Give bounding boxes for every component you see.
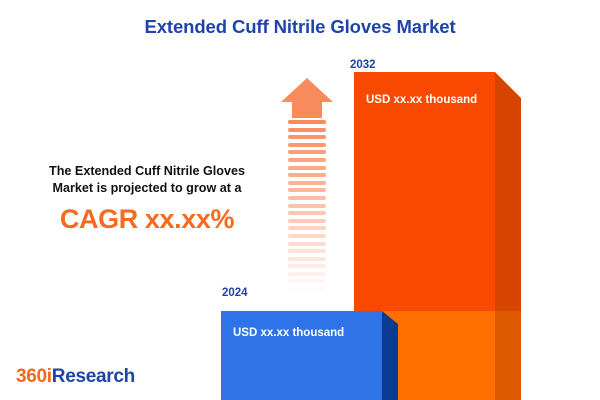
arrow-stripe: [288, 249, 326, 253]
arrow-stripe: [288, 135, 326, 139]
arrow-stripe: [288, 219, 326, 223]
callout-line-2: Market is projected to grow at a: [18, 180, 276, 197]
arrow-stripe: [288, 242, 326, 246]
bar-value-2024: USD xx.xx thousand: [233, 327, 344, 339]
arrow-stripe: [288, 166, 326, 170]
arrow-stripe: [288, 173, 326, 177]
arrow-stripe: [288, 120, 326, 124]
arrow-stripe: [288, 272, 326, 276]
arrow-stripe: [288, 150, 326, 154]
arrow-stripe: [288, 196, 326, 200]
brand-logo-prefix: 360i: [16, 366, 52, 387]
arrow-stripe: [288, 279, 326, 283]
growth-arrow-icon: [281, 78, 333, 290]
arrow-head-icon: [281, 78, 333, 118]
arrow-stripe: [288, 143, 326, 147]
callout-cagr-value: CAGR xx.xx%: [18, 204, 276, 235]
arrow-stripe: [288, 264, 326, 268]
page-title: Extended Cuff Nitrile Gloves Market: [0, 16, 600, 38]
bar-value-2032: USD xx.xx thousand: [366, 94, 477, 106]
brand-logo: 360iResearch: [16, 366, 135, 388]
bar-2032-front-upper: [354, 72, 495, 311]
brand-logo-suffix: Research: [52, 366, 135, 387]
arrow-stripe: [288, 257, 326, 261]
bar-2024-front: [221, 311, 382, 400]
arrow-stripe: [288, 181, 326, 185]
arrow-stripe: [288, 128, 326, 132]
arrow-stripe: [288, 287, 326, 291]
bar-2024-side-panel: [382, 311, 398, 400]
bar-label-2024: 2024: [222, 287, 248, 299]
arrow-stripe: [288, 188, 326, 192]
bar-label-2032: 2032: [350, 59, 376, 71]
callout-text-block: The Extended Cuff Nitrile Gloves Market …: [18, 163, 276, 235]
arrow-stripe: [288, 211, 326, 215]
arrow-stripes: [288, 120, 326, 290]
arrow-stripe: [288, 226, 326, 230]
arrow-stripe: [288, 204, 326, 208]
arrow-stripe: [288, 158, 326, 162]
bar-2032-side-panel-lower: [495, 311, 521, 400]
arrow-stripe: [288, 234, 326, 238]
callout-line-1: The Extended Cuff Nitrile Gloves: [18, 163, 276, 180]
infographic-canvas: Extended Cuff Nitrile Gloves Market 2032…: [0, 0, 600, 400]
